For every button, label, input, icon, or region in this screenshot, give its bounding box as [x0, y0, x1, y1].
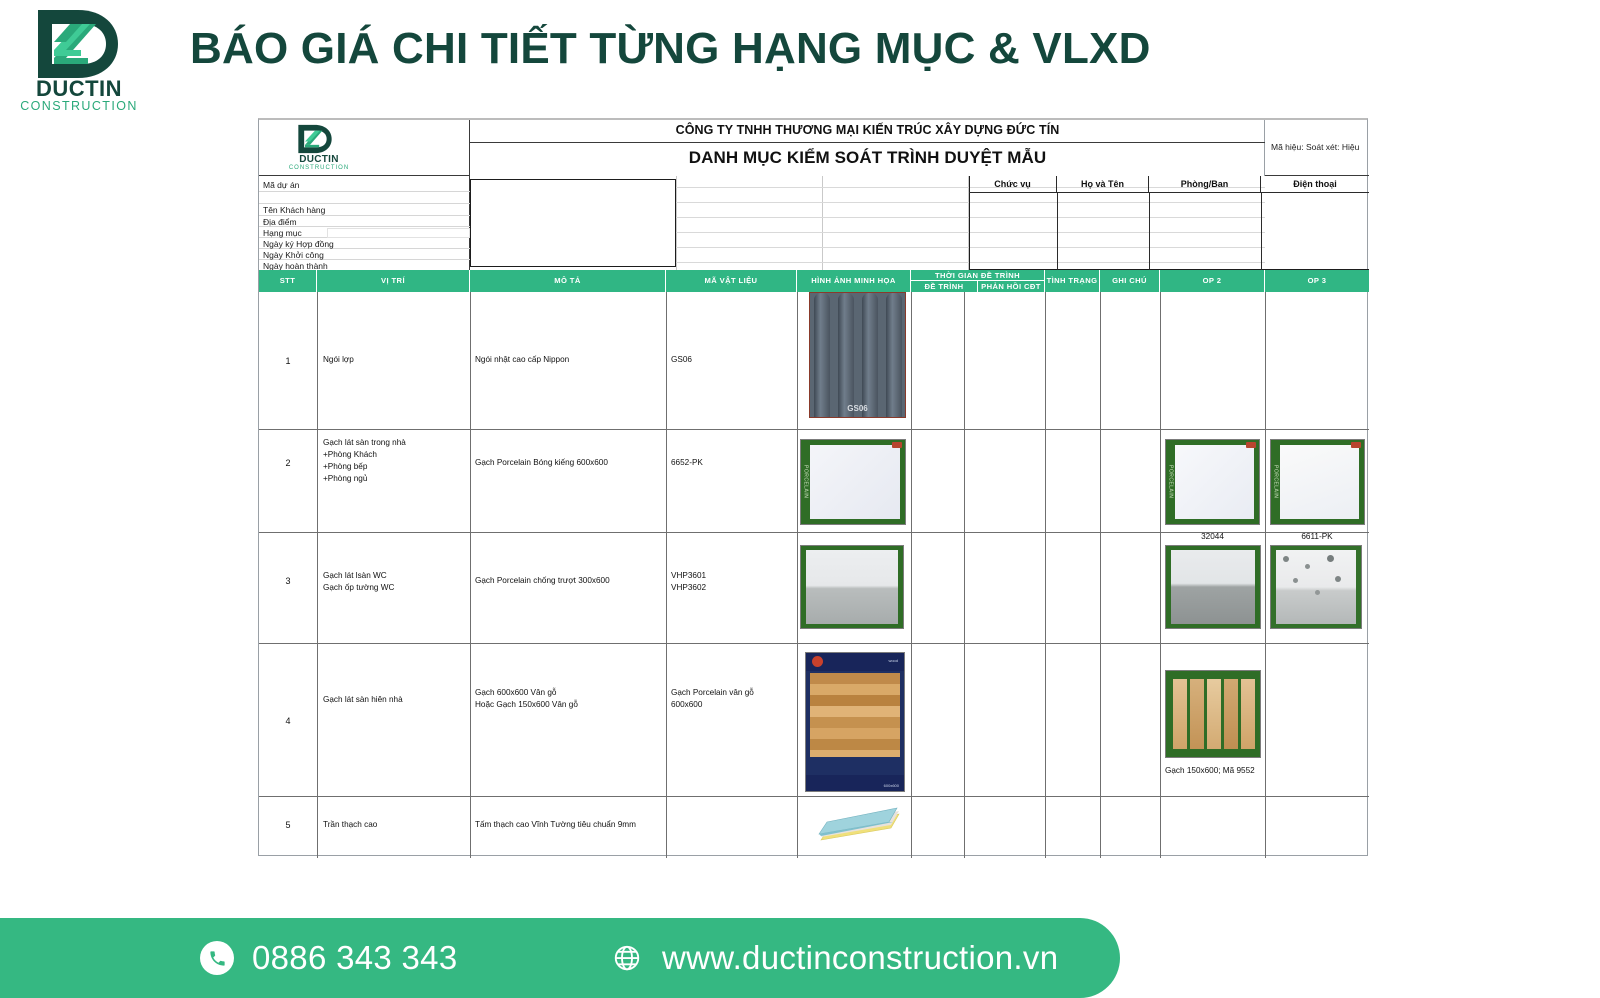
globe-icon	[610, 941, 644, 975]
column-header-thoi-gian: THỜI GIAN ĐỀ TRÌNH ĐỀ TRÌNH PHẢN HỒI CĐT	[911, 270, 1045, 292]
footer-phone-text: 0886 343 343	[252, 939, 457, 977]
column-header-op3: OP 3	[1265, 270, 1369, 292]
page-header: DUCTIN CONSTRUCTION BÁO GIÁ CHI TIẾT TỪN…	[0, 0, 1600, 118]
row-mo-ta: Gạch Porcelain Bóng kiếng 600x600	[475, 457, 663, 469]
column-header-op2: OP 2	[1160, 270, 1265, 292]
info-label-ngay-khoi-cong: Ngày Khởi công	[263, 250, 324, 260]
footer-phone[interactable]: 0886 343 343	[200, 918, 457, 998]
sheet-title-cell: CÔNG TY TNHH THƯƠNG MẠI KIẾN TRÚC XÂY DỰ…	[470, 120, 1265, 176]
doc-code-cell: Mã hiệu: Soát xét: Hiệu	[1265, 120, 1369, 176]
row-op3-caption: 6611-PK	[1265, 532, 1369, 541]
people-table: Chức vụ Họ và Tên Phòng/Ban Điện thoại	[969, 176, 1369, 270]
row-stt: 4	[259, 716, 317, 726]
company-name: CÔNG TY TNHH THƯƠNG MẠI KIẾN TRÚC XÂY DỰ…	[470, 123, 1265, 143]
row-stt: 2	[259, 458, 317, 468]
row-op2-thumbnail[interactable]	[1165, 670, 1261, 758]
page-title: BÁO GIÁ CHI TIẾT TỪNG HẠNG MỤC & VLXD	[190, 24, 1510, 74]
row-op2-caption: 32044	[1160, 532, 1265, 541]
column-header-tinh-trang: TÌNH TRẠNG	[1045, 270, 1100, 292]
row-image-thumbnail[interactable]	[800, 545, 904, 629]
row-stt: 3	[259, 576, 317, 586]
row-mo-ta: Tấm thạch cao Vĩnh Tường tiêu chuẩn 9mm	[475, 819, 663, 831]
info-label-ten-khach-hang: Tên Khách hàng	[263, 205, 325, 215]
document-title: DANH MỤC KIỂM SOÁT TRÌNH DUYỆT MẪU	[470, 148, 1265, 168]
row-mo-ta: Ngói nhật cao cấp Nippon	[475, 354, 663, 366]
column-header-ma-vat-lieu: MÃ VẬT LIỆU	[666, 270, 797, 292]
sheet-logo-subtitle: CONSTRUCTION	[259, 165, 379, 171]
row-mo-ta: Gạch 600x600 Vân gỗ Hoặc Gạch 150x600 Vâ…	[475, 687, 663, 711]
row-vi-tri: Gạch lát sàn hiên nhà	[323, 694, 467, 706]
people-header-chuc-vu: Chức vụ	[969, 176, 1057, 193]
brand-subtitle: CONSTRUCTION	[20, 100, 138, 113]
row-image-thumbnail[interactable]: PORCELAIN	[800, 439, 906, 525]
sheet-info-band: Mã dự án Tên Khách hàng Địa điểm Hạng mụ…	[259, 176, 1369, 270]
column-header-mo-ta: MÔ TẢ	[470, 270, 666, 292]
hang-muc-input[interactable]	[327, 228, 470, 238]
sheet-logo-cell: DUCTIN CONSTRUCTION	[259, 120, 470, 176]
row-vi-tri: Ngói lợp	[323, 354, 467, 366]
row-op2-caption: Gạch 150x600; Mã 9552	[1160, 766, 1278, 775]
footer-website-text: www.ductinconstruction.vn	[662, 939, 1058, 977]
tile-brand-text: PORCELAIN	[801, 440, 810, 524]
gypsum-board-icon	[807, 792, 907, 856]
row-image-thumbnail[interactable]: GS06	[805, 288, 910, 421]
footer-bar: 0886 343 343 www.ductinconstruction.vn	[0, 918, 1120, 998]
project-info-cell: Mã dự án Tên Khách hàng Địa điểm Hạng mụ…	[259, 176, 470, 270]
sheet-top-band: DUCTIN CONSTRUCTION CÔNG TY TNHH THƯƠNG …	[259, 120, 1369, 176]
people-header-ho-va-ten: Họ và Tên	[1057, 176, 1149, 193]
row-mo-ta: Gạch Porcelain chống trượt 300x600	[475, 575, 663, 587]
row-stt: 1	[259, 356, 317, 366]
info-label-ma-du-an: Mã dự án	[263, 180, 299, 190]
brand-logo: DUCTIN CONSTRUCTION	[18, 8, 138, 116]
column-header-stt: STT	[259, 270, 317, 292]
info-label-hang-muc: Hạng mục	[263, 228, 302, 238]
row-op2-thumbnail[interactable]	[1165, 545, 1261, 629]
footer-website[interactable]: www.ductinconstruction.vn	[610, 918, 1058, 998]
table-body: 1 Ngói lợp Ngói nhật cao cấp Nippon GS06…	[259, 292, 1369, 858]
row-image-thumbnail[interactable]: wood 600x600	[805, 652, 905, 792]
row-ma-vat-lieu: Gạch Porcelain vân gỗ 600x600	[671, 687, 795, 711]
column-header-phan-hoi: PHẢN HỒI CĐT	[978, 281, 1044, 292]
notes-box[interactable]	[470, 179, 676, 267]
tile-brand-text: PORCELAIN	[1166, 440, 1175, 524]
info-label-dia-diem: Địa điểm	[263, 217, 297, 227]
row-image-thumbnail[interactable]	[807, 792, 907, 856]
column-header-vi-tri: VỊ TRÍ	[317, 270, 470, 292]
row-op3-thumbnail[interactable]: PORCELAIN	[1270, 439, 1365, 525]
roof-tile-code: GS06	[810, 404, 905, 413]
info-label-ngay-ky-hop-dong: Ngày ký Hợp đồng	[263, 239, 334, 249]
column-header-de-trinh: ĐỀ TRÌNH	[911, 281, 978, 292]
sheet-logo-name: DUCTIN	[259, 154, 379, 165]
column-header-thoi-gian-title: THỜI GIAN ĐỀ TRÌNH	[911, 270, 1044, 281]
phone-icon	[200, 941, 234, 975]
row-ma-vat-lieu: 6652-PK	[671, 457, 795, 469]
tile-brand-text: PORCELAIN	[1271, 440, 1280, 524]
row-vi-tri: Gạch lát lsàn WC Gạch ốp tường WC	[323, 570, 467, 594]
ductin-logo-icon-small	[295, 124, 335, 154]
brand-name: DUCTIN	[20, 78, 138, 100]
doc-code-text: Mã hiệu: Soát xét: Hiệu	[1265, 142, 1359, 152]
row-op3-thumbnail[interactable]	[1270, 545, 1362, 629]
row-stt: 5	[259, 820, 317, 830]
row-ma-vat-lieu: VHP3601 VHP3602	[671, 570, 795, 594]
spreadsheet-document: DUCTIN CONSTRUCTION CÔNG TY TNHH THƯƠNG …	[258, 118, 1368, 856]
ductin-logo-icon	[32, 8, 124, 80]
column-header-ghi-chu: GHI CHÚ	[1100, 270, 1160, 292]
row-vi-tri: Trần thạch cao	[323, 819, 467, 831]
row-op2-thumbnail[interactable]: PORCELAIN	[1165, 439, 1260, 525]
people-header-dien-thoai: Điện thoại	[1261, 176, 1369, 193]
row-ma-vat-lieu: GS06	[671, 354, 795, 366]
row-vi-tri: Gạch lát sàn trong nhà +Phòng Khách +Phò…	[323, 437, 467, 485]
people-header-phong-ban: Phòng/Ban	[1149, 176, 1261, 193]
